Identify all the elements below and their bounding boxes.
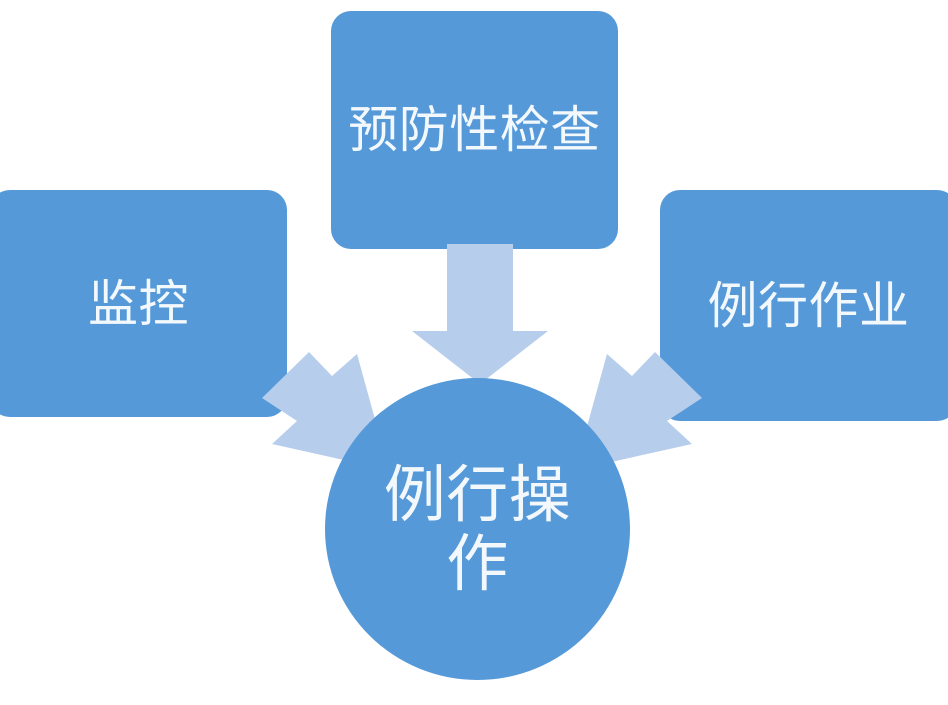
node-monitoring-label: 监控 (88, 276, 189, 332)
node-preventive-inspection-label: 预防性检查 (348, 102, 601, 158)
node-routine-task[interactable]: 例行作业 (660, 190, 948, 421)
diagram-canvas: 预防性检查 监控 例行作业 例行操 作 (0, 0, 948, 705)
node-preventive-inspection[interactable]: 预防性检查 (331, 11, 618, 249)
arrow-down-icon (412, 244, 548, 384)
node-monitoring[interactable]: 监控 (0, 190, 287, 417)
node-routine-operation[interactable]: 例行操 作 (325, 378, 630, 680)
node-routine-operation-label: 例行操 作 (384, 460, 572, 599)
node-routine-task-label: 例行作业 (708, 278, 910, 334)
